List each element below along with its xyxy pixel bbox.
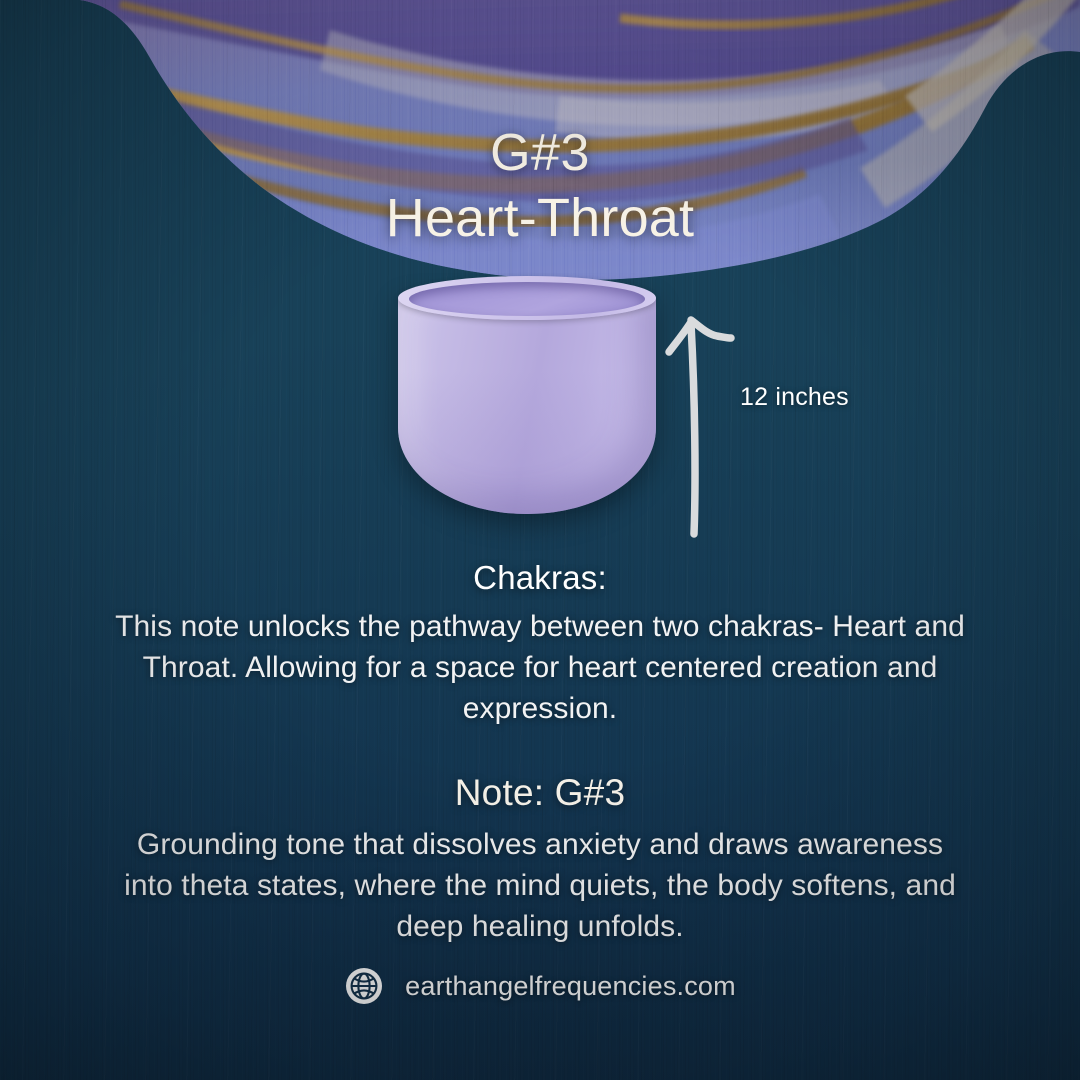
bowl-rim-inner	[409, 282, 645, 316]
singing-bowl-image	[380, 272, 680, 542]
note-body: Grounding tone that dissolves anxiety an…	[110, 824, 970, 947]
chakra-pair-title: Heart-Throat	[0, 184, 1080, 252]
chakras-heading: Chakras:	[0, 558, 1080, 598]
measurement-label: 12 inches	[740, 381, 849, 413]
note-title: G#3	[0, 122, 1080, 184]
note-heading: Note: G#3	[0, 770, 1080, 816]
bowl-body	[398, 290, 656, 514]
chakras-section: Chakras: This note unlocks the pathway b…	[0, 558, 1080, 729]
globe-icon	[344, 966, 384, 1006]
post-card: G#3 Heart-Throat 12 inches Chakras: This…	[0, 0, 1080, 1080]
website-url[interactable]: earthangelfrequencies.com	[405, 969, 736, 1003]
chakras-body: This note unlocks the pathway between tw…	[110, 606, 970, 729]
up-arrow-icon	[655, 300, 785, 550]
title-block: G#3 Heart-Throat	[0, 122, 1080, 252]
note-section: Note: G#3 Grounding tone that dissolves …	[0, 770, 1080, 947]
footer: earthangelfrequencies.com	[0, 966, 1080, 1006]
